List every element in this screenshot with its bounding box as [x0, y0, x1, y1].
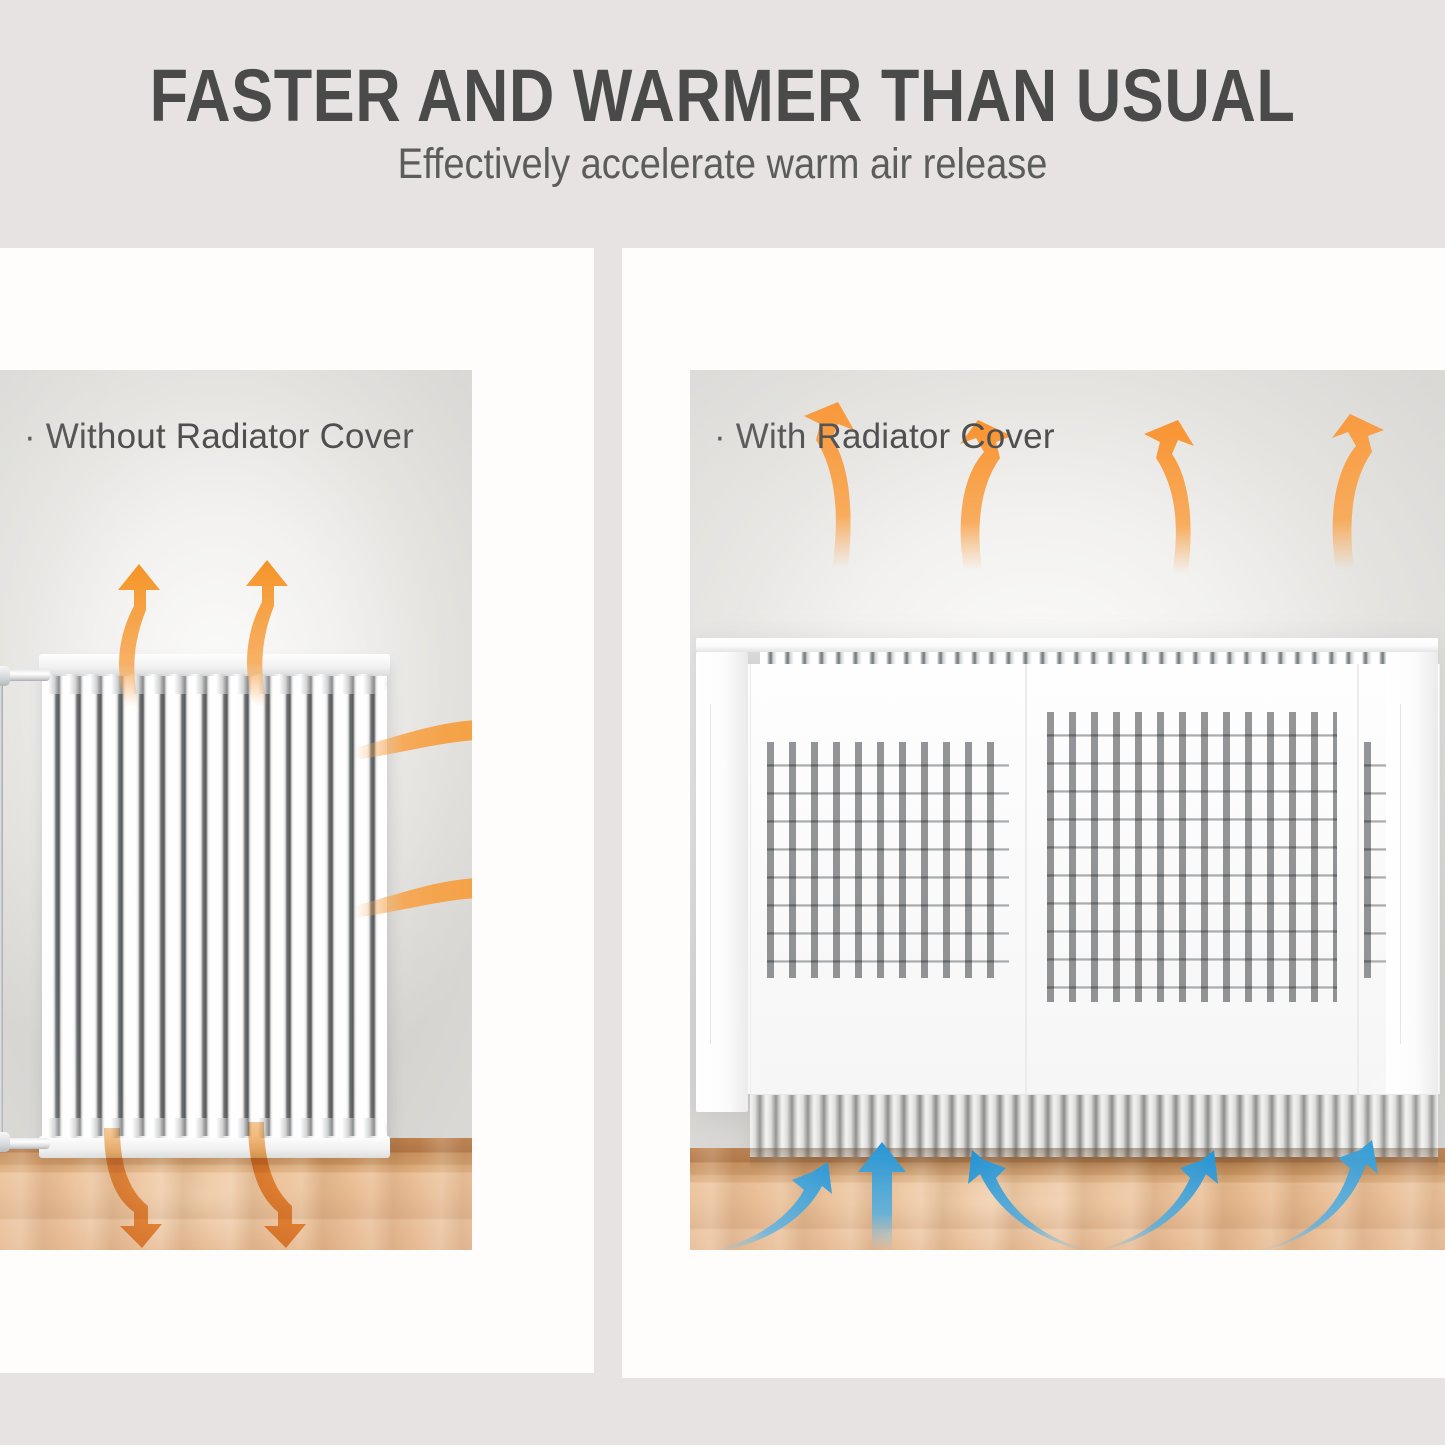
grille-slats: [767, 742, 1008, 978]
radiator-columns: [42, 660, 387, 1152]
cool-air-arrow-in-3: [948, 1148, 1098, 1250]
cover-grille-panel-left: [750, 664, 1026, 1094]
radiator-cover: [696, 638, 1438, 1156]
radiator-pipes: [0, 656, 54, 1176]
cool-air-arrow-in-4: [1088, 1148, 1238, 1250]
warm-air-arrow-up-4: [1314, 412, 1390, 570]
radiator-bottom-cap: [39, 1136, 390, 1158]
warm-air-arrow-right-2: [352, 858, 472, 920]
cool-air-arrow-in-5: [1250, 1140, 1390, 1250]
cool-air-arrow-in-1: [706, 1160, 846, 1250]
warm-air-arrow-up-2: [236, 558, 292, 706]
cover-top-cap: [696, 638, 1438, 652]
radiator-top-knuckles: [42, 674, 387, 694]
warm-air-arrow-down-1: [100, 1128, 176, 1250]
photo-without-cover: · Without Radiator Cover: [0, 370, 472, 1250]
warm-air-arrow-down-2: [244, 1122, 320, 1250]
header-banner: FASTER AND WARMER THAN USUAL Effectively…: [0, 0, 1445, 248]
page-title: FASTER AND WARMER THAN USUAL: [0, 55, 1445, 138]
cool-air-arrow-in-2: [856, 1140, 910, 1250]
column-radiator: [42, 660, 387, 1152]
cover-grille-panel-center: [1026, 664, 1358, 1094]
cover-leg-right: [1386, 652, 1438, 1112]
panel-label-with-cover: · With Radiator Cover: [714, 416, 1055, 458]
radiator-top-cap: [39, 654, 390, 676]
panel-label-without-cover: · Without Radiator Cover: [24, 416, 414, 458]
page-subtitle: Effectively accelerate warm air release: [0, 139, 1445, 191]
grille-slats: [1047, 712, 1337, 1002]
comparison-card-with-cover: · With Radiator Cover: [622, 248, 1445, 1378]
photo-with-cover: · With Radiator Cover: [690, 370, 1445, 1250]
radiator-bottom-knuckles: [42, 1118, 387, 1138]
warm-air-arrow-right-1: [352, 700, 472, 762]
cover-leg-left: [696, 652, 748, 1112]
warm-air-arrow-up-3: [1138, 418, 1214, 574]
warm-air-arrow-up-1: [106, 562, 162, 707]
comparison-card-without-cover: · Without Radiator Cover: [0, 248, 594, 1373]
